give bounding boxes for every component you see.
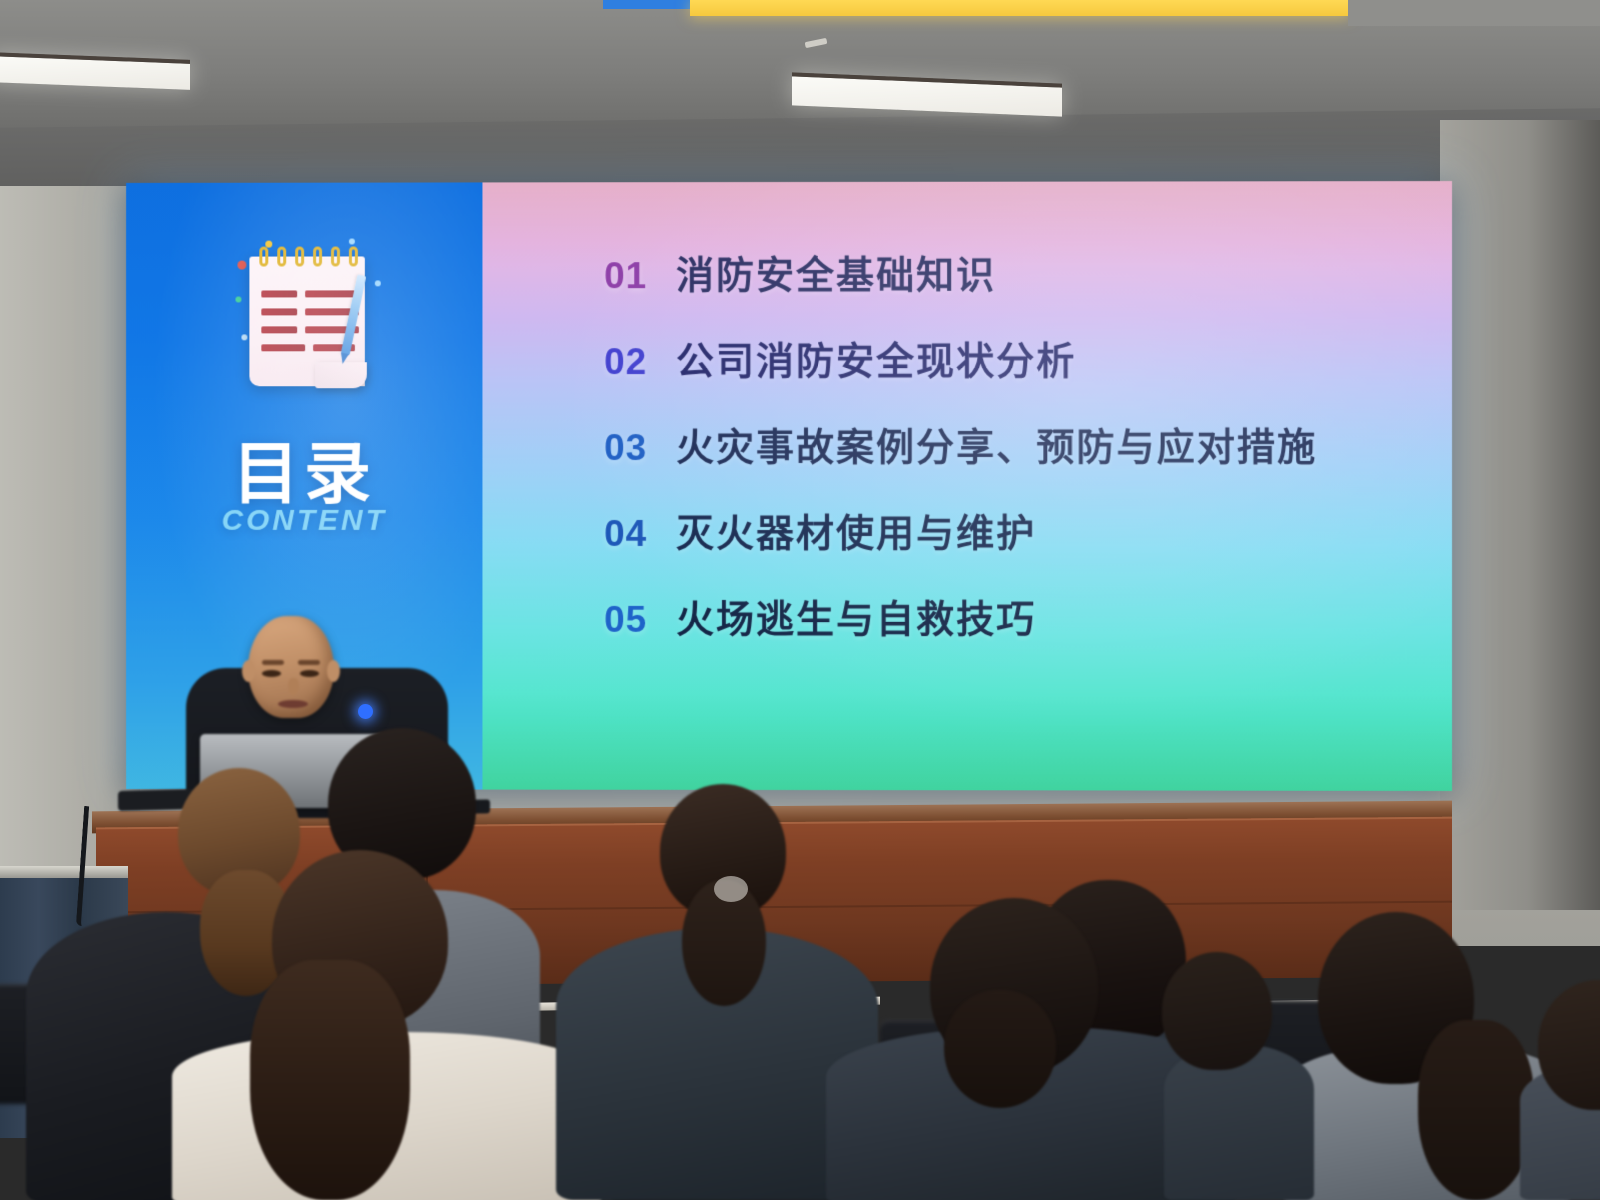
audience-ponytail-2 (250, 960, 410, 1200)
agenda-text-01: 消防安全基础知识 (676, 244, 996, 299)
notepad-line-2a (261, 308, 297, 315)
agenda-item-05[interactable]: 05火场逃生与自救技巧 (604, 588, 1426, 675)
hair-tie-4 (714, 876, 748, 902)
decor-dot-white (241, 334, 247, 340)
presenter-brow-left (262, 660, 284, 665)
presenter-badge-light (358, 704, 373, 719)
agenda-text-05: 火场逃生与自救技巧 (676, 588, 1036, 643)
presenter-head (248, 616, 334, 718)
notepad-line-1b (305, 290, 359, 297)
notepad-line-4a (261, 344, 305, 351)
agenda-list: 01消防安全基础知识02公司消防安全现状分析03火灾事故案例分享、预防与应对措施… (604, 243, 1426, 674)
decor-dot-blue2 (375, 280, 381, 286)
agenda-item-04[interactable]: 04灭火器材使用与维护 (604, 502, 1426, 588)
notepad-icon (230, 234, 389, 406)
left-wall (0, 186, 140, 886)
notepad-page-curl (315, 362, 367, 388)
presenter-mouth (278, 700, 308, 708)
notepad-ring-1 (259, 247, 268, 267)
slide-title-chinese: 目录 (126, 420, 482, 517)
ceiling-right-panel (1348, 0, 1600, 26)
agenda-text-02: 公司消防安全现状分析 (676, 330, 1076, 385)
presenter-nose (288, 678, 299, 695)
notepad-ring-2 (277, 247, 286, 267)
lecture-room-scene: 目录 CONTENT 01消防安全基础知识02公司消防安全现状分析03火灾事故案… (0, 0, 1600, 1200)
agenda-text-03: 火灾事故案例分享、预防与应对措施 (676, 416, 1317, 471)
right-wall (1440, 120, 1600, 910)
presenter-ear-right (327, 660, 340, 682)
decor-dot-red (237, 261, 246, 270)
agenda-item-01[interactable]: 01消防安全基础知识 (604, 243, 1426, 330)
audience-head-9 (1162, 952, 1272, 1070)
agenda-number-04: 04 (604, 513, 676, 555)
audience-ponytail-7 (1418, 1020, 1534, 1200)
notepad-ring-5 (331, 247, 340, 267)
agenda-item-02[interactable]: 02公司消防安全现状分析 (604, 330, 1426, 417)
decor-dot-blue (349, 239, 355, 245)
presenter-eye-right (300, 670, 319, 677)
presenter-brow-right (298, 660, 320, 665)
agenda-number-03: 03 (604, 427, 676, 469)
slide-title-english: CONTENT (126, 504, 482, 538)
presenter-ear-left (242, 660, 255, 682)
agenda-number-01: 01 (604, 255, 676, 297)
audience-torso-9 (1164, 1044, 1314, 1200)
agenda-number-02: 02 (604, 341, 676, 383)
notepad-ring-6 (349, 246, 358, 266)
notepad-line-3a (261, 326, 297, 333)
slide-right-panel: 01消防安全基础知识02公司消防安全现状分析03火灾事故案例分享、预防与应对措施… (482, 181, 1452, 791)
presenter-eye-left (262, 670, 281, 677)
notepad-line-1a (261, 290, 297, 297)
ceiling-blue-strip (603, 0, 695, 9)
agenda-text-04: 灭火器材使用与维护 (676, 502, 1036, 557)
decor-dot-green (235, 296, 241, 302)
notepad-ring-4 (313, 247, 322, 267)
agenda-number-05: 05 (604, 599, 676, 641)
agenda-item-03[interactable]: 03火灾事故案例分享、预防与应对措施 (604, 416, 1426, 502)
notepad-ring-3 (295, 247, 304, 267)
audience-ponytail-6 (944, 990, 1056, 1108)
ceiling-yellow-banner (690, 0, 1350, 16)
